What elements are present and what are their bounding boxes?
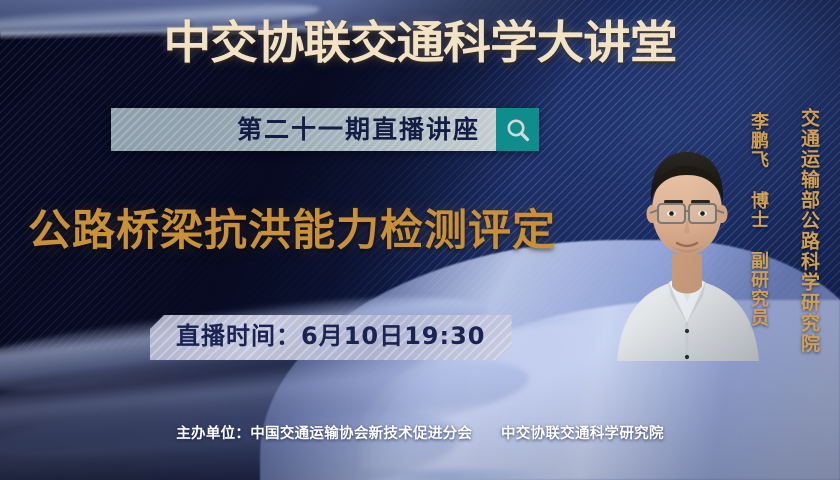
- footer-host-label: 主办单位：中国交通运输协会新技术促进分会: [176, 426, 472, 442]
- poster-canvas: 中交协联交通科学大讲堂 第二十一期直播讲座 公路桥梁抗洪能力检测评定 直播时间：…: [0, 0, 840, 480]
- lecture-title: 公路桥梁抗洪能力检测评定: [28, 208, 556, 255]
- speaker-organization: 交通运输部公路科学研究院: [796, 108, 823, 354]
- broadcast-time-badge: 直播时间：6月10日19:30: [150, 315, 512, 360]
- footer-organizers: 主办单位：中国交通运输协会新技术促进分会 中交协联交通科学研究院: [0, 427, 840, 442]
- footer-institute-label: 中交协联交通科学研究院: [501, 426, 664, 442]
- episode-banner-panel: 第二十一期直播讲座: [111, 108, 496, 151]
- search-icon: [505, 117, 531, 143]
- speaker-name-and-title: 李鹏飞 博士 副研究员: [745, 112, 771, 327]
- episode-label: 第二十一期直播讲座: [237, 117, 496, 142]
- search-button[interactable]: [496, 108, 539, 151]
- page-title: 中交协联交通科学大讲堂: [0, 20, 840, 65]
- episode-banner: 第二十一期直播讲座: [111, 108, 539, 151]
- broadcast-time-text: 直播时间：6月10日19:30: [176, 322, 486, 350]
